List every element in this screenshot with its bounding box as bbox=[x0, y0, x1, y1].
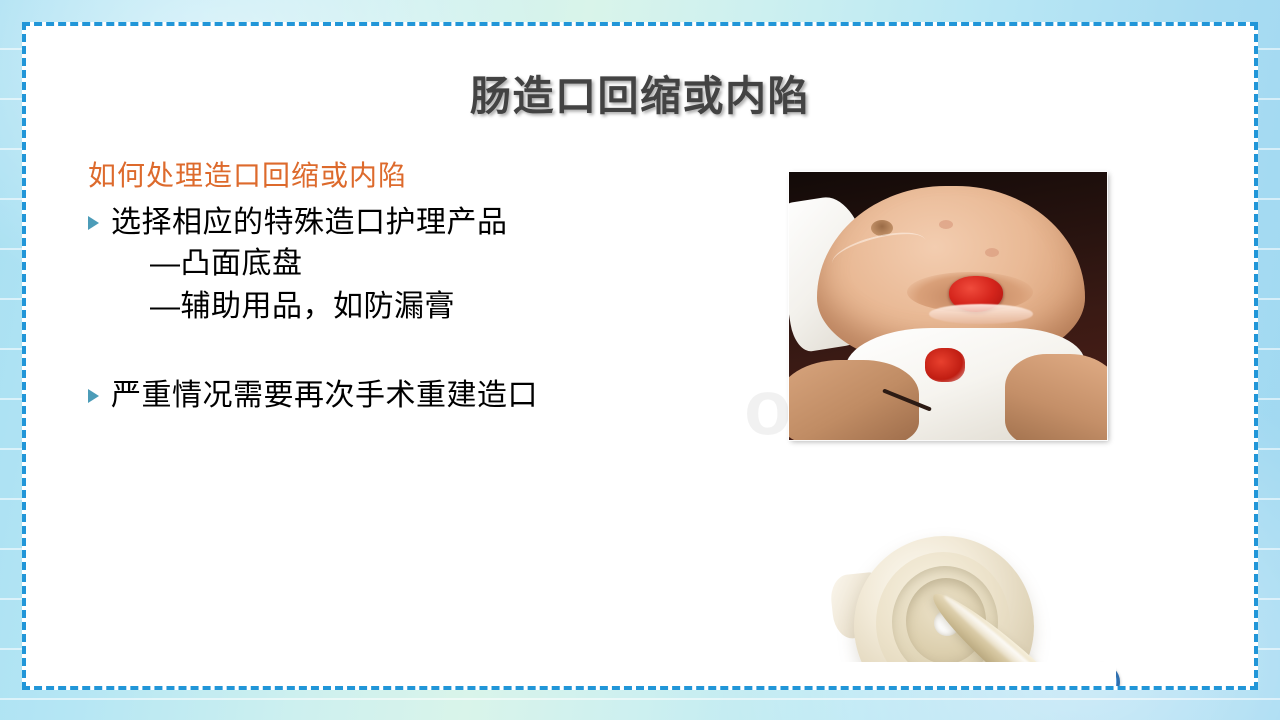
triangle-right-icon bbox=[88, 216, 99, 230]
photo-hand-left bbox=[789, 360, 919, 440]
sub-item-1: —凸面底盘 bbox=[150, 243, 728, 286]
photo-skin-spot bbox=[939, 220, 953, 229]
paste-applicator bbox=[934, 508, 1110, 684]
paragraph-spacer bbox=[88, 329, 728, 369]
slide-content-card: 肠造口回缩或内陷 如何处理造口回缩或内陷 选择相应的特殊造口护理产品 —凸面底盘… bbox=[22, 22, 1258, 690]
border-gap-overlay bbox=[746, 662, 1116, 690]
photo-blood-stain bbox=[925, 348, 965, 382]
body-text-column: 如何处理造口回缩或内陷 选择相应的特殊造口护理产品 —凸面底盘 —辅助用品，如防… bbox=[88, 154, 728, 416]
bullet-item-1-label: 选择相应的特殊造口护理产品 bbox=[111, 202, 508, 243]
bullet-item-2: 严重情况需要再次手术重建造口 bbox=[88, 375, 728, 416]
photo-mucus bbox=[929, 304, 1033, 324]
product-photo bbox=[826, 478, 1156, 690]
sub-item-2: —辅助用品，如防漏膏 bbox=[150, 286, 728, 329]
section-subheading: 如何处理造口回缩或内陷 bbox=[88, 154, 728, 194]
triangle-right-icon bbox=[88, 389, 99, 403]
photo-hand-right bbox=[1005, 354, 1107, 440]
slide-canvas: 肠造口回缩或内陷 如何处理造口回缩或内陷 选择相应的特殊造口护理产品 —凸面底盘… bbox=[0, 0, 1280, 720]
photo-skin-spot bbox=[985, 248, 999, 257]
bullet-item-1: 选择相应的特殊造口护理产品 bbox=[88, 202, 728, 243]
clinical-stoma-photo bbox=[789, 172, 1107, 440]
page-title: 肠造口回缩或内陷 bbox=[26, 62, 1254, 122]
bullet-item-2-label: 严重情况需要再次手术重建造口 bbox=[111, 375, 538, 416]
